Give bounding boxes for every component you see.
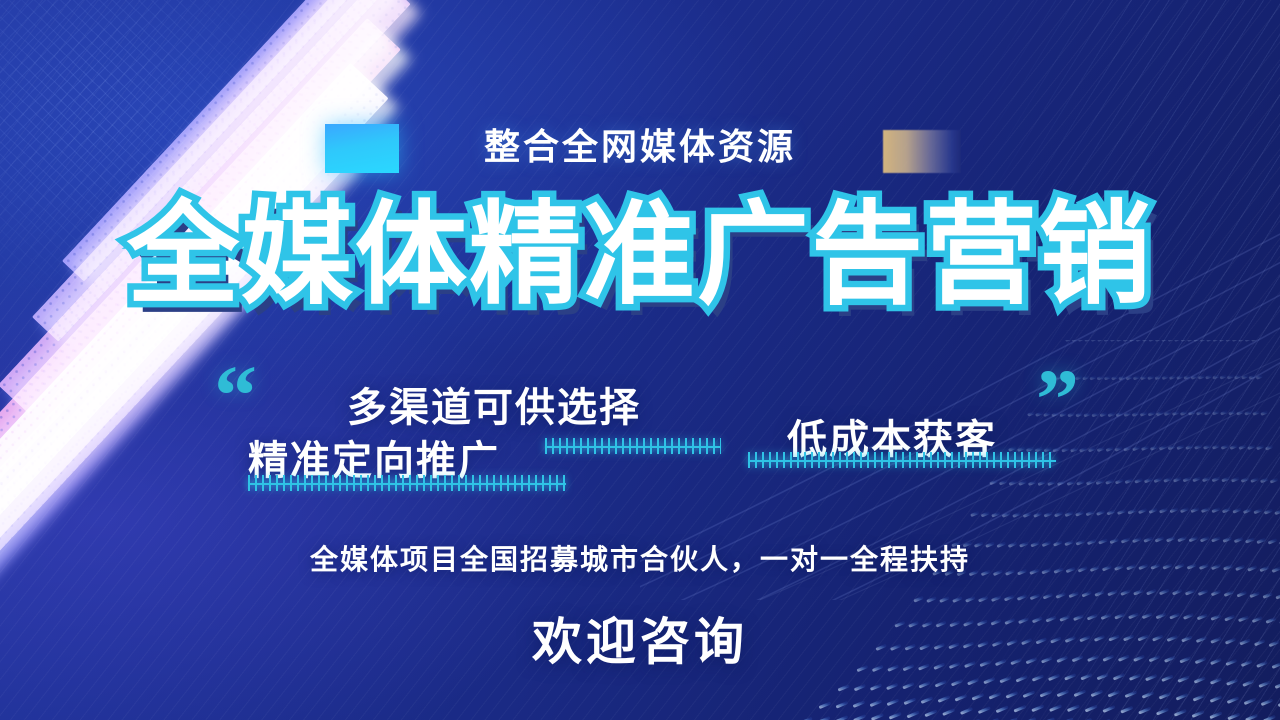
tick-rule-middle [545,438,721,454]
tagline-text: 全媒体项目全国招募城市合伙人，一对一全程扶持 [0,538,1280,578]
main-title-fill: 全媒体精准广告营销 [0,190,1280,320]
slogan-multi-channel: 多渠道可供选择 [347,375,641,433]
subtitle-row: 整合全网媒体资源 [0,112,1280,182]
open-quote-icon: “ [214,352,257,438]
main-title: 全媒体精准广告营销 全媒体精准广告营销 全媒体精准广告营销 [0,190,1280,320]
close-quote-icon: ” [1036,356,1079,442]
poster-canvas: 整合全网媒体资源 全媒体精准广告营销 全媒体精准广告营销 全媒体精准广告营销 “… [0,0,1280,720]
subtitle-text: 整合全网媒体资源 [0,112,1280,182]
tick-rule-left [248,475,566,491]
tick-rule-right [748,452,1056,468]
cta-text: 欢迎咨询 [0,602,1280,674]
